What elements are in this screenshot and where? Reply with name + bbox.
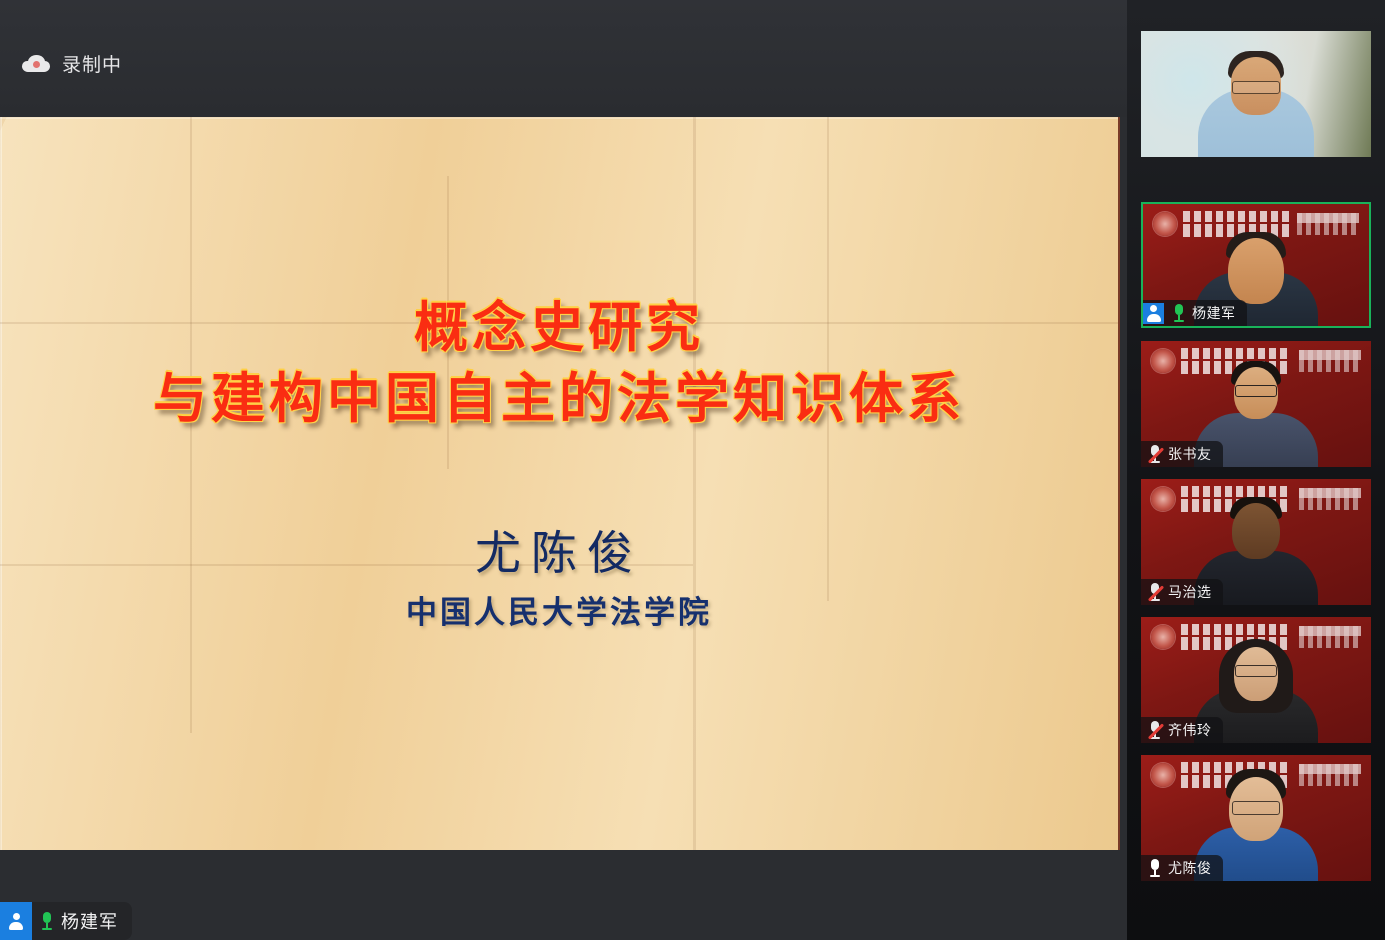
participant-name: 尤陈俊: [1168, 858, 1212, 878]
participant-name: 杨建军: [1192, 303, 1236, 323]
slide-presenter-affiliation: 中国人民大学法学院: [0, 587, 1118, 632]
participant-name: 齐伟玲: [1168, 720, 1212, 740]
host-person-icon: [1143, 303, 1164, 324]
university-emblem-icon: [1151, 763, 1175, 787]
video-tile-zhang-shuyou[interactable]: 张书友: [1141, 341, 1371, 467]
stage-bottom-area: [0, 850, 1127, 940]
meeting-stage: 录制中 概念史研究 与建构中国自主的法学知识体系 尤陈俊 中国人民大学法学院: [0, 0, 1127, 940]
recording-bar: 录制中: [0, 0, 1127, 117]
microphone-on-icon: [1172, 304, 1186, 323]
tile-name-chip: 杨建军: [1143, 300, 1247, 326]
slide-title-line-1: 概念史研究: [0, 292, 1118, 363]
recording-indicator: 录制中: [22, 50, 122, 77]
recording-label: 录制中: [62, 50, 122, 77]
microphone-muted-icon: [1148, 445, 1162, 464]
participant-name: 张书友: [1168, 444, 1212, 464]
video-tile-yang-jianjun[interactable]: 杨建军: [1141, 202, 1371, 328]
tile-name-chip: 马治选: [1141, 579, 1223, 605]
host-person-icon: [0, 902, 32, 940]
participant-name: 马治选: [1168, 582, 1212, 602]
tile-name-chip: 尤陈俊: [1141, 855, 1223, 881]
video-tile-ma-zhixuan[interactable]: 马治选: [1141, 479, 1371, 605]
tile-name-chip: 张书友: [1141, 441, 1223, 467]
slide-presenter-name: 尤陈俊: [0, 517, 1118, 583]
university-emblem-icon: [1151, 625, 1175, 649]
bottom-speaker-chip: 杨建军: [32, 902, 132, 940]
video-tile-1[interactable]: [1141, 31, 1371, 157]
cloud-recording-icon: [22, 55, 50, 72]
microphone-muted-icon: [1148, 583, 1162, 602]
slide-canvas: 概念史研究 与建构中国自主的法学知识体系 尤陈俊 中国人民大学法学院: [0, 117, 1118, 850]
secondary-logo-icon: [1297, 213, 1359, 235]
bottom-speaker-name: 杨建军: [61, 908, 118, 934]
video-tile-you-chenjun[interactable]: 尤陈俊: [1141, 755, 1371, 881]
microphone-on-icon: [40, 912, 54, 931]
microphone-on-icon: [1148, 859, 1162, 878]
university-emblem-icon: [1153, 212, 1177, 236]
secondary-logo-icon: [1299, 488, 1361, 510]
secondary-logo-icon: [1299, 764, 1361, 786]
bottom-active-speaker-bar: 杨建军: [0, 902, 132, 940]
backdrop-banner-text: [1183, 211, 1291, 237]
university-emblem-icon: [1151, 487, 1175, 511]
video-tile-qi-weiling[interactable]: 齐伟玲: [1141, 617, 1371, 743]
slide-title-line-2: 与建构中国自主的法学知识体系: [0, 363, 1118, 434]
participant-video-sidebar[interactable]: 杨建军 张书友: [1127, 0, 1385, 940]
video-feed: [1141, 31, 1371, 157]
microphone-muted-icon: [1148, 721, 1162, 740]
secondary-logo-icon: [1299, 626, 1361, 648]
shared-slide[interactable]: 概念史研究 与建构中国自主的法学知识体系 尤陈俊 中国人民大学法学院: [0, 117, 1120, 850]
tile-name-chip: 齐伟玲: [1141, 717, 1223, 743]
secondary-logo-icon: [1299, 350, 1361, 372]
university-emblem-icon: [1151, 349, 1175, 373]
slide-title: 概念史研究 与建构中国自主的法学知识体系: [0, 292, 1118, 435]
